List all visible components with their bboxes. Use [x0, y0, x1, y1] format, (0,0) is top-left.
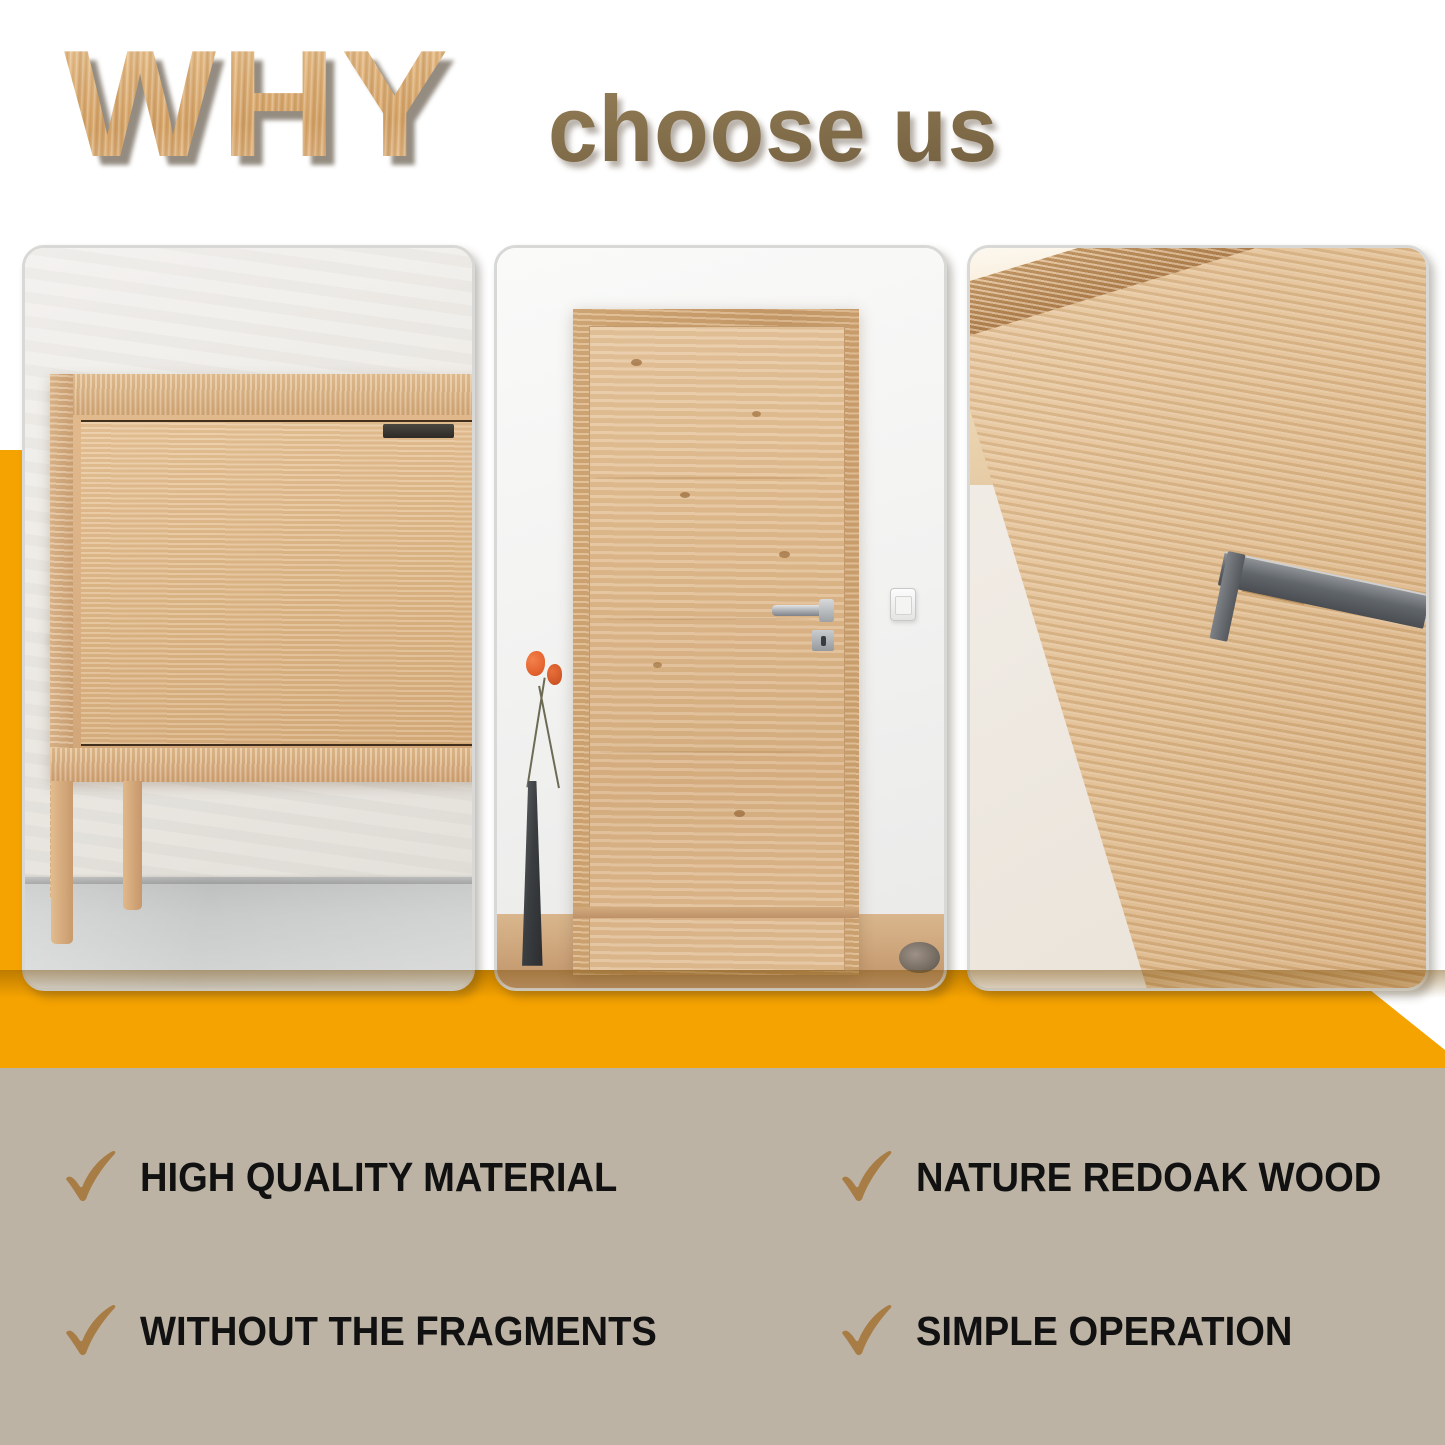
wood-grain-line: [604, 618, 810, 620]
feature-label: HIGH QUALITY MATERIAL: [140, 1157, 617, 1198]
feature-item-high-quality-material: HIGH QUALITY MATERIAL: [62, 1146, 653, 1208]
door-threshold: [573, 907, 859, 919]
photo-card-veneer-detail: [967, 245, 1429, 991]
feature-label: WITHOUT THE FRAGMENTS: [140, 1311, 657, 1352]
feature-item-nature-redoak-wood: NATURE REDOAK WOOD: [838, 1146, 1416, 1208]
door-handle-rosette: [819, 599, 834, 623]
feature-label: SIMPLE OPERATION: [916, 1311, 1292, 1352]
check-icon: [838, 1146, 900, 1208]
poppy-flower: [526, 651, 545, 676]
cabinet-leg-left: [51, 781, 73, 944]
poppy-flower: [547, 664, 562, 685]
wood-log-decor: [899, 942, 939, 973]
features-panel: HIGH QUALITY MATERIAL NATURE REDOAK WOOD…: [0, 1068, 1445, 1445]
cabinet-flap-door: [81, 420, 475, 746]
light-switch-rocker: [895, 596, 911, 615]
wood-knot: [752, 411, 761, 417]
cabinet-door-handle: [383, 424, 455, 438]
photo-card-door: [494, 245, 947, 991]
photo-gallery: [0, 0, 1445, 1070]
photo-card-cabinet: [22, 245, 475, 991]
check-icon: [62, 1300, 124, 1362]
floor-sheen: [25, 877, 472, 988]
feature-item-simple-operation: SIMPLE OPERATION: [838, 1300, 1321, 1362]
feature-item-without-the-fragments: WITHOUT THE FRAGMENTS: [62, 1300, 696, 1362]
oak-door-leaf: [589, 326, 846, 972]
cabinet-bottom-rail: [50, 748, 475, 782]
door-keyhole: [821, 636, 827, 646]
feature-label: NATURE REDOAK WOOD: [916, 1157, 1381, 1198]
check-icon: [62, 1146, 124, 1208]
cabinet-leg-middle: [123, 781, 142, 911]
why-choose-us-infographic: WHY choose us: [0, 0, 1445, 1445]
check-icon: [838, 1300, 900, 1362]
base-shadow: [25, 874, 472, 884]
wood-knot: [631, 359, 642, 366]
cabinet-top-rail: [50, 374, 475, 415]
